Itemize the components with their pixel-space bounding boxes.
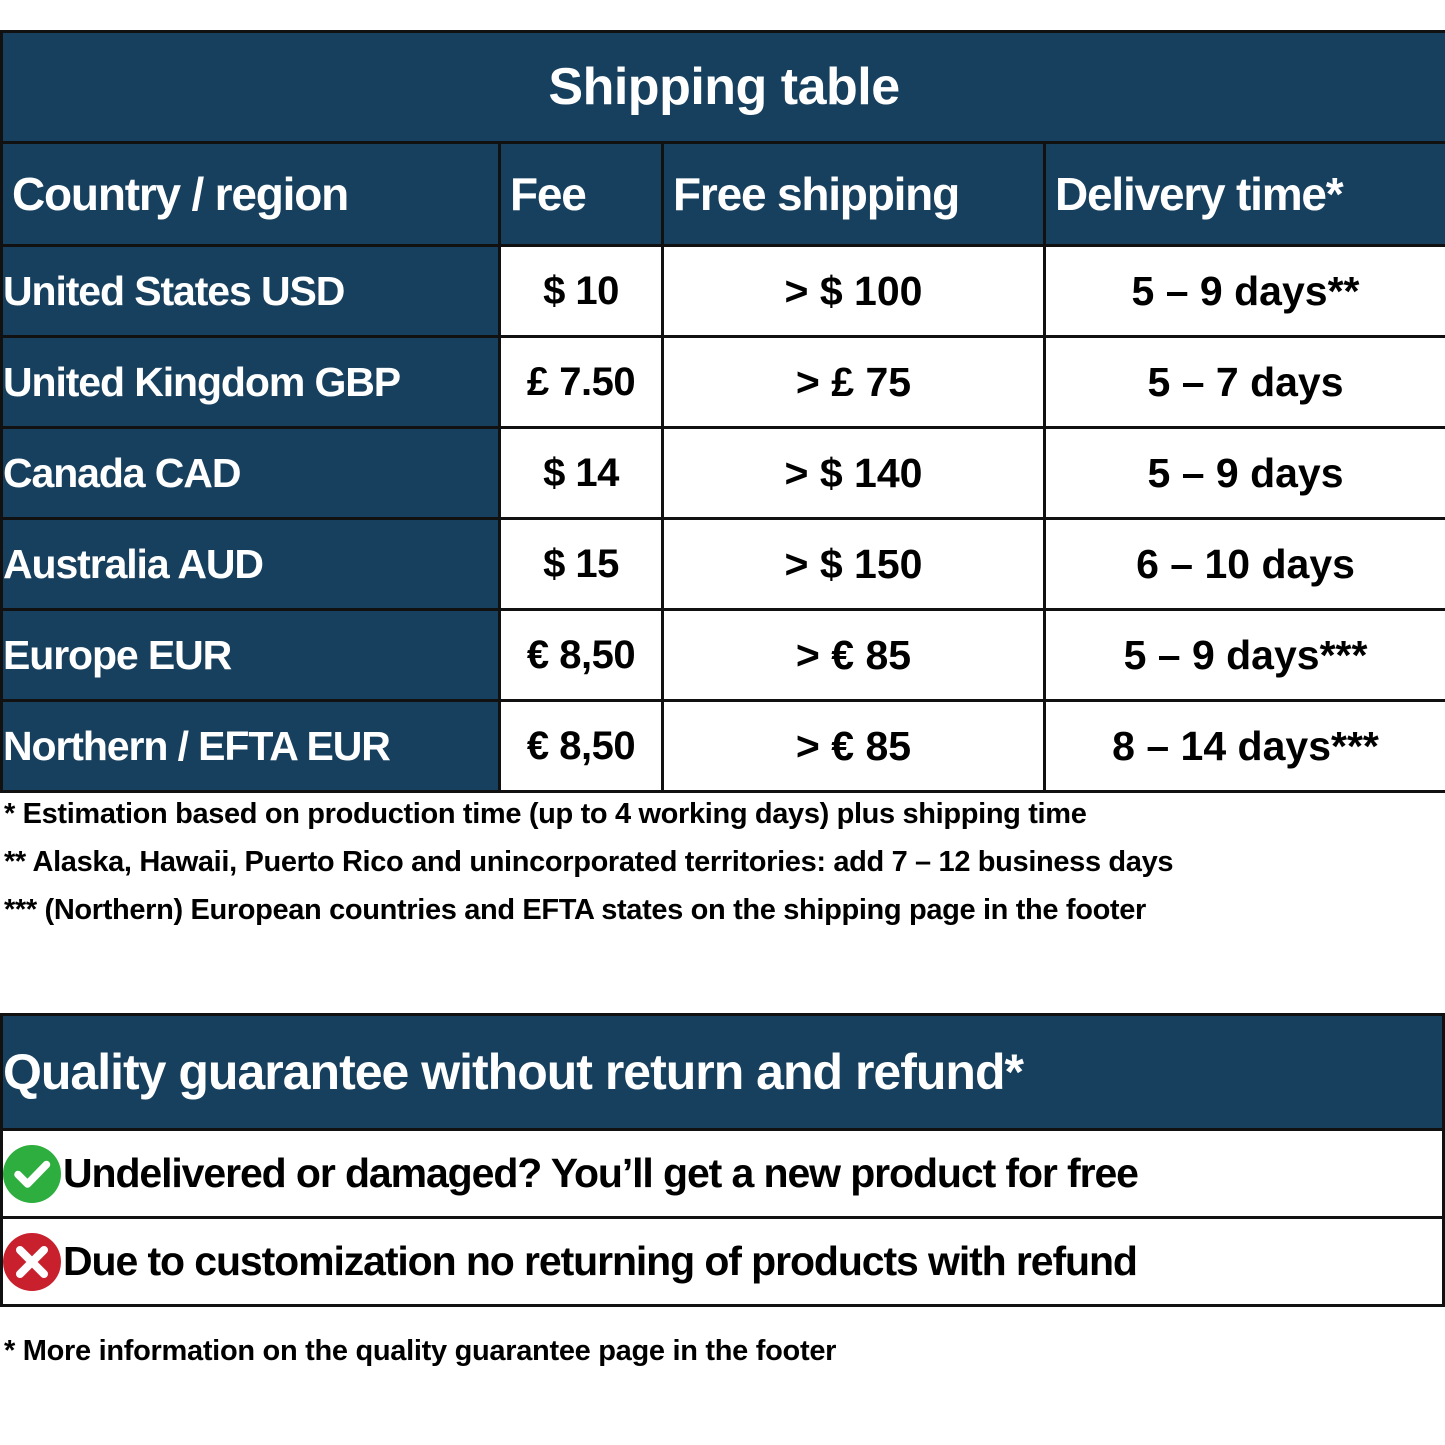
cell-delivery-time: 5 – 7 days — [1045, 337, 1445, 428]
table-row: Canada CAD $ 14 > $ 140 5 – 9 days — [2, 428, 1445, 519]
cell-fee: $ 15 — [500, 519, 663, 610]
cell-free-shipping: > $ 100 — [663, 246, 1045, 337]
cell-delivery-time: 5 – 9 days — [1045, 428, 1445, 519]
cell-region: United Kingdom GBP — [2, 337, 500, 428]
footnote-triple-asterisk: *** (Northern) European countries and EF… — [4, 886, 1442, 934]
cell-free-shipping: > $ 150 — [663, 519, 1045, 610]
cell-delivery-time: 6 – 10 days — [1045, 519, 1445, 610]
cell-region: Northern / EFTA EUR — [2, 701, 500, 792]
guarantee-text: Undelivered or damaged? You’ll get a new… — [63, 1150, 1138, 1197]
cell-fee: € 8,50 — [500, 610, 663, 701]
cell-delivery-time: 8 – 14 days*** — [1045, 701, 1445, 792]
shipping-table-title-row: Shipping table — [2, 32, 1445, 143]
column-header-country: Country / region — [2, 143, 500, 246]
table-row: United States USD $ 10 > $ 100 5 – 9 day… — [2, 246, 1445, 337]
table-row: Northern / EFTA EUR € 8,50 > € 85 8 – 14… — [2, 701, 1445, 792]
cell-free-shipping: > € 85 — [663, 610, 1045, 701]
cell-region: Europe EUR — [2, 610, 500, 701]
footnote-single-asterisk: * Estimation based on production time (u… — [4, 790, 1442, 838]
guarantee-footnote: * More information on the quality guaran… — [4, 1335, 1442, 1368]
guarantee-title-row: Quality guarantee without return and ref… — [2, 1015, 1444, 1130]
shipping-footnotes: * Estimation based on production time (u… — [4, 790, 1442, 934]
guarantee-row-covered: Undelivered or damaged? You’ll get a new… — [2, 1130, 1444, 1218]
list-item: Due to customization no returning of pro… — [2, 1218, 1444, 1306]
footnote-double-asterisk: ** Alaska, Hawaii, Puerto Rico and uninc… — [4, 838, 1442, 886]
quality-guarantee-title: Quality guarantee without return and ref… — [2, 1015, 1444, 1130]
cell-fee: $ 14 — [500, 428, 663, 519]
check-circle-icon — [3, 1145, 61, 1203]
cell-fee: £ 7.50 — [500, 337, 663, 428]
cell-free-shipping: > $ 140 — [663, 428, 1045, 519]
cell-region: Australia AUD — [2, 519, 500, 610]
cell-free-shipping: > € 85 — [663, 701, 1045, 792]
guarantee-text: Due to customization no returning of pro… — [63, 1238, 1137, 1285]
shipping-table-title: Shipping table — [2, 32, 1445, 143]
list-item: Undelivered or damaged? You’ll get a new… — [2, 1130, 1444, 1218]
column-header-delivery-time: Delivery time* — [1045, 143, 1445, 246]
table-row: United Kingdom GBP £ 7.50 > £ 75 5 – 7 d… — [2, 337, 1445, 428]
shipping-table-header-row: Country / region Fee Free shipping Deliv… — [2, 143, 1445, 246]
quality-guarantee-table: Quality guarantee without return and ref… — [0, 1013, 1445, 1307]
cell-delivery-time: 5 – 9 days** — [1045, 246, 1445, 337]
shipping-table: Shipping table Country / region Fee Free… — [0, 30, 1445, 793]
cell-delivery-time: 5 – 9 days*** — [1045, 610, 1445, 701]
column-header-free-shipping: Free shipping — [663, 143, 1045, 246]
column-header-fee: Fee — [500, 143, 663, 246]
cell-fee: $ 10 — [500, 246, 663, 337]
guarantee-row-excluded: Due to customization no returning of pro… — [2, 1218, 1444, 1306]
cell-fee: € 8,50 — [500, 701, 663, 792]
cross-circle-icon — [3, 1233, 61, 1291]
table-row: Europe EUR € 8,50 > € 85 5 – 9 days*** — [2, 610, 1445, 701]
table-row: Australia AUD $ 15 > $ 150 6 – 10 days — [2, 519, 1445, 610]
cell-region: Canada CAD — [2, 428, 500, 519]
cell-free-shipping: > £ 75 — [663, 337, 1045, 428]
cell-region: United States USD — [2, 246, 500, 337]
